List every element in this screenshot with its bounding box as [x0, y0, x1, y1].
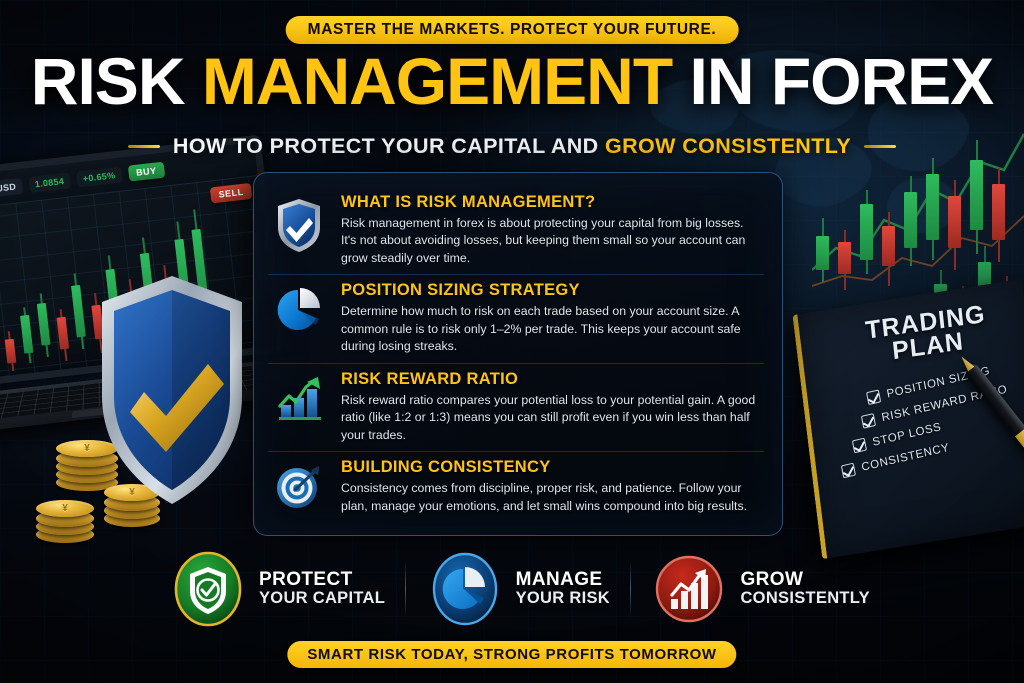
buy-button[interactable]: BUY — [127, 161, 165, 181]
hero-shield-icon — [96, 272, 248, 508]
checkbox-icon — [866, 389, 881, 405]
badge-protect-your-capital[interactable]: PROTECT YOUR CAPITAL — [170, 551, 385, 627]
change-percent-value: +0.65% — [76, 166, 122, 187]
subtitle-yellow-part: GROW CONSISTENTLY — [605, 134, 851, 158]
subtitle-dash-left — [128, 145, 160, 148]
row-body: Determine how much to risk on each trade… — [341, 303, 762, 355]
content-row-risk-reward-ratio: RISK REWARD RATIO Risk reward ratio comp… — [268, 363, 764, 451]
checkbox-icon — [852, 438, 867, 454]
content-row-building-consistency: BUILDING CONSISTENCY Consistency comes f… — [268, 451, 764, 522]
page-subtitle: HOW TO PROTECT YOUR CAPITAL AND GROW CON… — [173, 134, 851, 159]
row-body: Risk reward ratio compares your potentia… — [341, 392, 762, 444]
badge-line-1: PROTECT — [259, 570, 385, 591]
badge-line-1: GROW — [740, 570, 870, 591]
shield-check-badge-icon — [170, 551, 246, 627]
row-icon-wrap — [270, 193, 328, 267]
content-row-position-sizing-strategy: POSITION SIZING STRATEGY Determine how m… — [268, 274, 764, 362]
row-body: Consistency comes from discipline, prope… — [341, 480, 762, 515]
subtitle-white-part: HOW TO PROTECT YOUR CAPITAL AND — [173, 134, 605, 158]
currency-pair-label: EUR/USD — [0, 177, 23, 199]
target-dart-icon — [275, 462, 323, 510]
subtitle-dash-right — [864, 145, 896, 148]
row-text-wrap: WHAT IS RISK MANAGEMENT? Risk management… — [341, 193, 762, 267]
badge-line-2: CONSISTENTLY — [740, 590, 870, 608]
pie-chart-icon — [275, 285, 323, 335]
row-title: BUILDING CONSISTENCY — [341, 458, 762, 477]
badge-separator — [405, 560, 406, 618]
badge-text: MANAGE YOUR RISK — [516, 570, 610, 608]
price-value: 1.0854 — [28, 172, 71, 193]
checkbox-icon — [861, 413, 876, 429]
coin-symbol: ¥ — [36, 500, 94, 517]
infographic-poster: EUR/USD 1.0854 +0.65% BUY SELL ¥ ¥ ¥ — [0, 0, 1024, 683]
top-ribbon-banner: MASTER THE MARKETS. PROTECT YOUR FUTURE. — [286, 16, 739, 44]
row-title: RISK REWARD RATIO — [341, 370, 762, 389]
content-row-what-is-risk-management: WHAT IS RISK MANAGEMENT? Risk management… — [268, 187, 764, 274]
shield-check-icon — [275, 197, 323, 253]
trading-plan-notebook: TRADING PLAN POSITION SIZING RISK REWARD… — [792, 279, 1024, 559]
page-title: RISK MANAGEMENT IN FOREX — [0, 48, 1024, 114]
badge-grow-consistently[interactable]: GROW CONSISTENTLY — [651, 551, 870, 627]
badge-text: GROW CONSISTENTLY — [740, 570, 870, 608]
title-part-2: MANAGEMENT — [202, 44, 672, 118]
row-text-wrap: RISK REWARD RATIO Risk reward ratio comp… — [341, 370, 762, 444]
badge-separator — [630, 560, 631, 618]
row-icon-wrap — [270, 281, 328, 355]
bottom-badges: PROTECT YOUR CAPITAL — [170, 548, 870, 630]
growth-chart-badge-icon — [651, 551, 727, 627]
badge-line-2: YOUR CAPITAL — [259, 590, 385, 608]
row-text-wrap: BUILDING CONSISTENCY Consistency comes f… — [341, 458, 762, 515]
growth-chart-icon — [274, 374, 324, 424]
badge-line-1: MANAGE — [516, 570, 610, 591]
row-body: Risk management in forex is about protec… — [341, 215, 762, 267]
content-card: WHAT IS RISK MANAGEMENT? Risk management… — [253, 172, 783, 536]
badge-line-2: YOUR RISK — [516, 590, 610, 608]
subtitle-row: HOW TO PROTECT YOUR CAPITAL AND GROW CON… — [0, 134, 1024, 159]
row-title: WHAT IS RISK MANAGEMENT? — [341, 193, 762, 212]
title-part-3: IN FOREX — [672, 44, 993, 118]
badge-manage-your-risk[interactable]: MANAGE YOUR RISK — [427, 551, 610, 627]
badge-text: PROTECT YOUR CAPITAL — [259, 570, 385, 608]
bottom-ribbon-banner: SMART RISK TODAY, STRONG PROFITS TOMORRO… — [287, 641, 736, 668]
title-part-1: RISK — [31, 44, 202, 118]
row-icon-wrap — [270, 370, 328, 444]
row-title: POSITION SIZING STRATEGY — [341, 281, 762, 300]
row-text-wrap: POSITION SIZING STRATEGY Determine how m… — [341, 281, 762, 355]
checkbox-icon — [841, 463, 856, 479]
pie-chart-badge-icon — [427, 551, 503, 627]
row-icon-wrap — [270, 458, 328, 515]
